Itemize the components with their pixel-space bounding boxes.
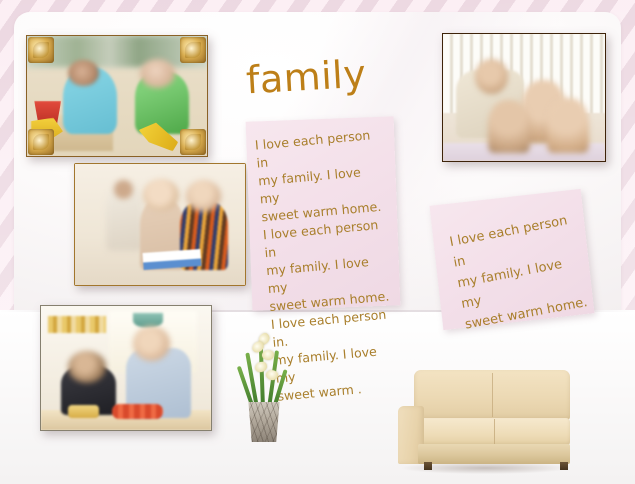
page-title: family xyxy=(245,52,368,103)
photo-adult-background-face-blurred xyxy=(114,180,133,199)
photo-mat xyxy=(75,164,245,285)
photo-frame-sandcastle[interactable] xyxy=(26,35,208,157)
frame-corner-ornament-icon xyxy=(180,129,206,155)
photo-mat xyxy=(41,306,211,430)
photo-frame-family-on-bed[interactable] xyxy=(442,33,606,162)
photo-image-reading xyxy=(75,164,245,285)
plant-pot xyxy=(247,402,281,442)
scrapbook-canvas: family xyxy=(0,0,635,484)
frame-corner-ornament-icon xyxy=(28,37,54,63)
photo-mat xyxy=(443,34,605,161)
photo-frame-kitchen[interactable] xyxy=(40,305,212,431)
sticky-note-short[interactable]: I love each person in my family. I love … xyxy=(430,189,595,330)
photo-child-right-face-blurred xyxy=(140,59,174,88)
potted-plant xyxy=(238,330,290,442)
photo-child-face-blurred xyxy=(68,351,105,383)
photo-father-face-blurred xyxy=(475,59,507,93)
photo-frame-reading[interactable] xyxy=(74,163,246,286)
sticky-note-long[interactable]: I love each person in my family. I love … xyxy=(246,116,401,310)
photo-mother-face-blurred xyxy=(133,326,170,361)
photo-tomatoes-on-counter xyxy=(112,404,163,419)
sofa-base xyxy=(418,444,570,464)
photo-image-kitchen xyxy=(41,306,211,430)
sofa-leg xyxy=(424,462,432,470)
sofa-seat-cushions xyxy=(420,418,570,446)
frame-corner-ornament-icon xyxy=(180,37,206,63)
sofa-backrest-cushions xyxy=(414,370,570,420)
photo-girl-face-blurred xyxy=(143,179,179,212)
sofa xyxy=(398,366,570,474)
photo-child-two-face-blurred xyxy=(547,98,589,154)
plant-flower xyxy=(254,361,267,373)
frame-corner-ornament-icon xyxy=(28,129,54,155)
photo-image-family-on-bed xyxy=(443,34,605,161)
photo-child-one-face-blurred xyxy=(488,100,530,153)
sofa-leg xyxy=(560,462,568,470)
photo-kitchen-shelf-jars xyxy=(48,316,106,333)
photo-bread-on-counter xyxy=(68,405,99,417)
plant-flower xyxy=(264,368,279,382)
